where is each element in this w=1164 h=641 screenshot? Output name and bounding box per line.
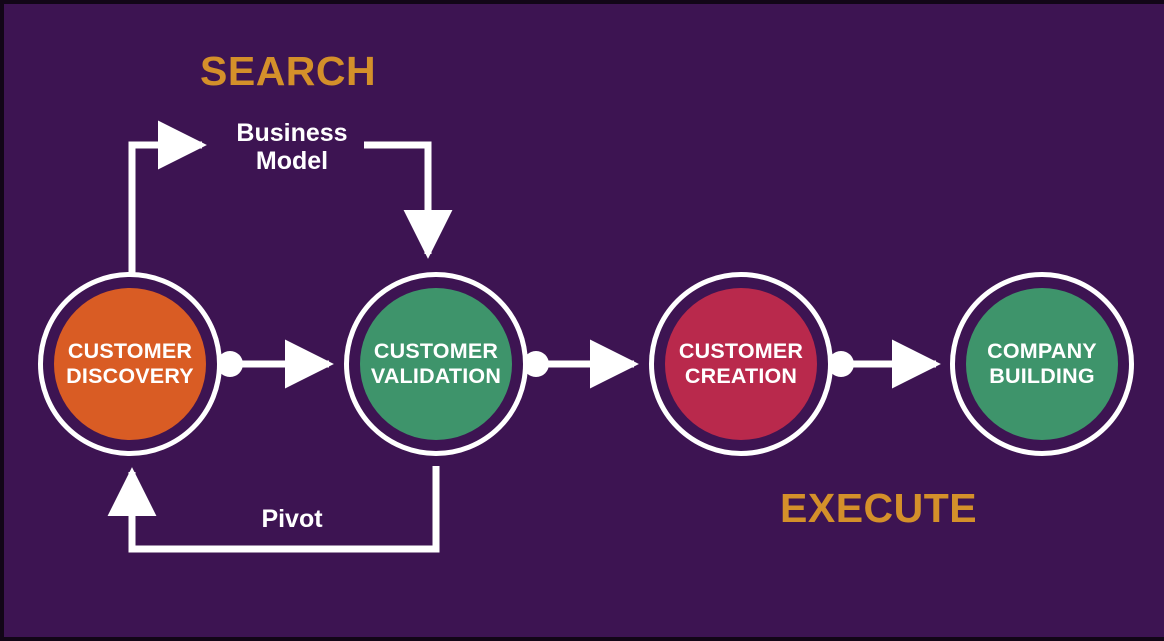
node-customer-creation[interactable]: CUSTOMER CREATION <box>649 272 833 456</box>
phase-label-search: SEARCH <box>200 48 376 95</box>
node-fill: CUSTOMER CREATION <box>665 288 817 440</box>
node-customer-discovery[interactable]: CUSTOMER DISCOVERY <box>38 272 222 456</box>
node-fill: CUSTOMER VALIDATION <box>360 288 512 440</box>
node-label: CUSTOMER DISCOVERY <box>66 339 194 390</box>
node-customer-validation[interactable]: CUSTOMER VALIDATION <box>344 272 528 456</box>
node-label: CUSTOMER VALIDATION <box>371 339 501 390</box>
edge-label-pivot: Pivot <box>222 505 362 533</box>
diagram-canvas: SEARCH EXECUTE Business Model Pivot CUST… <box>0 0 1164 641</box>
node-fill: COMPANY BUILDING <box>966 288 1118 440</box>
business-model-loop-right <box>364 145 428 254</box>
node-label: COMPANY BUILDING <box>987 339 1097 390</box>
node-company-building[interactable]: COMPANY BUILDING <box>950 272 1134 456</box>
node-label: CUSTOMER CREATION <box>679 339 803 390</box>
edge-label-business-model: Business Model <box>222 119 362 175</box>
phase-label-execute: EXECUTE <box>780 485 977 532</box>
business-model-loop-left <box>132 145 202 274</box>
node-fill: CUSTOMER DISCOVERY <box>54 288 206 440</box>
